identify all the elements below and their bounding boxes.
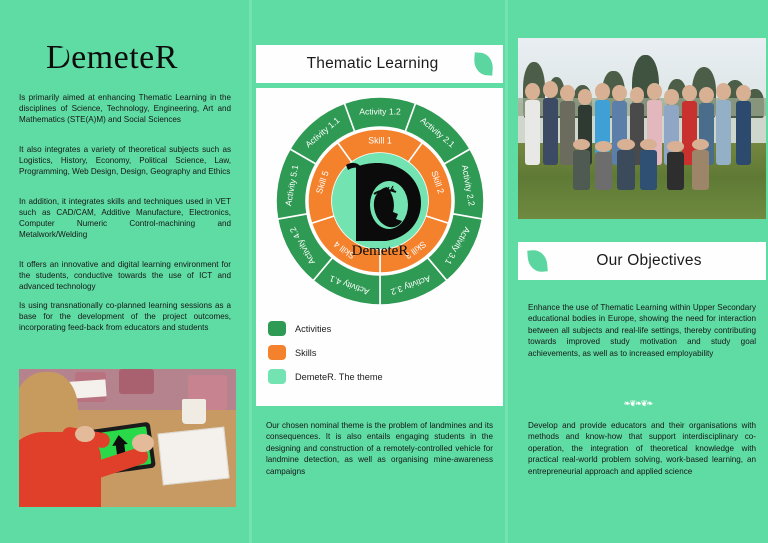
our-objectives-title: Our Objectives bbox=[596, 252, 701, 270]
nominal-theme-text: Our chosen nominal theme is the problem … bbox=[256, 420, 503, 477]
wheel-legend: Activities Skills DemeteR. The theme bbox=[268, 318, 383, 390]
middle-column: Thematic Learning Activity 1.1Activity bbox=[252, 0, 505, 543]
left-paragraph-4: It offers an innovative and digital lear… bbox=[19, 259, 231, 292]
left-paragraph-5: Is using transnationally co-planned lear… bbox=[19, 300, 231, 333]
poster-page: DemeteR Is primarily aimed at enhancing … bbox=[0, 0, 768, 543]
objective-paragraph-2: Develop and provide educators and their … bbox=[528, 420, 756, 477]
brand-title: DemeteR bbox=[46, 39, 216, 77]
legend-swatch-icon bbox=[268, 321, 286, 336]
right-column: Our Objectives Enhance the use of Themat… bbox=[508, 0, 768, 543]
legend-label: Activities bbox=[295, 324, 331, 334]
ornament-divider-icon: ❧❦❧❦❧ bbox=[508, 399, 768, 408]
wheel-center-label: DemeteR bbox=[352, 243, 409, 259]
team-group-photo bbox=[518, 38, 766, 219]
left-paragraph-3: In addition, it integrates skills and te… bbox=[19, 196, 231, 240]
thematic-learning-banner: Thematic Learning bbox=[256, 45, 503, 83]
wheel-panel: Activity 1.1Activity 1.2Activity 2.1Acti… bbox=[256, 88, 503, 406]
legend-label: DemeteR. The theme bbox=[295, 372, 383, 382]
leaf-icon bbox=[527, 249, 547, 272]
legend-label: Skills bbox=[295, 348, 316, 358]
nominal-theme-block: Our chosen nominal theme is the problem … bbox=[256, 420, 503, 520]
legend-item-activities: Activities bbox=[268, 318, 383, 339]
left-paragraph-2: It also integrates a variety of theoreti… bbox=[19, 144, 231, 177]
objective-paragraph-1: Enhance the use of Thematic Learning wit… bbox=[528, 302, 756, 359]
brand-rest: emeteR bbox=[71, 39, 178, 76]
wheel-label-skill: Skill 1 bbox=[368, 135, 392, 145]
thematic-learning-wheel: Activity 1.1Activity 1.2Activity 2.1Acti… bbox=[274, 95, 486, 307]
wheel-label-activity: Activity 1.2 bbox=[359, 106, 401, 116]
tablet-activity-photo bbox=[19, 369, 236, 507]
our-objectives-banner: Our Objectives bbox=[518, 242, 766, 280]
left-column: DemeteR Is primarily aimed at enhancing … bbox=[0, 0, 249, 543]
legend-swatch-icon bbox=[268, 345, 286, 360]
legend-swatch-icon bbox=[268, 369, 286, 384]
legend-item-skills: Skills bbox=[268, 342, 383, 363]
left-paragraph-1: Is primarily aimed at enhancing Thematic… bbox=[19, 92, 231, 125]
legend-item-theme: DemeteR. The theme bbox=[268, 366, 383, 387]
leaf-icon bbox=[473, 52, 493, 75]
thematic-learning-title: Thematic Learning bbox=[307, 55, 439, 73]
